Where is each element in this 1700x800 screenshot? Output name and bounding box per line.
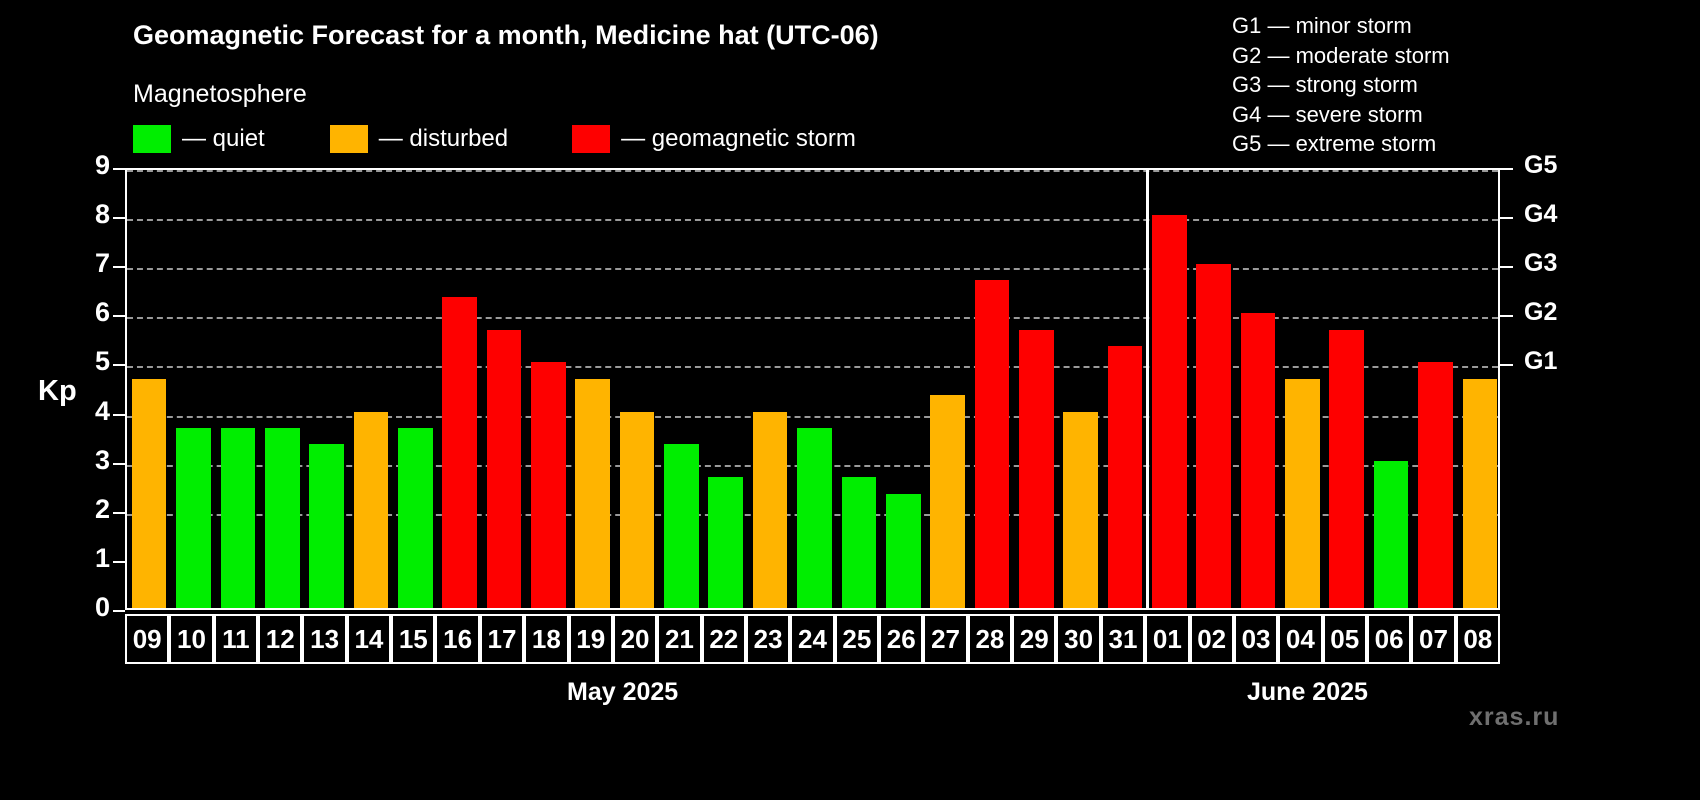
g-tick-mark [1500, 266, 1513, 268]
bar-29[interactable] [1019, 330, 1054, 608]
legend-item-quiet: — quiet [133, 125, 265, 153]
bar-19[interactable] [575, 379, 610, 608]
y-tick-mark [113, 463, 125, 465]
bar-30[interactable] [1063, 412, 1098, 608]
y-tick-label-4: 4 [70, 396, 110, 427]
g-tick-mark [1500, 364, 1513, 366]
day-label-01[interactable]: 01 [1145, 614, 1189, 664]
day-label-24[interactable]: 24 [790, 614, 834, 664]
bar-02[interactable] [1196, 264, 1231, 608]
y-tick-label-1: 1 [70, 543, 110, 574]
chart-page: Geomagnetic Forecast for a month, Medici… [0, 0, 1700, 800]
bar-12[interactable] [265, 428, 300, 608]
day-label-25[interactable]: 25 [835, 614, 879, 664]
day-label-26[interactable]: 26 [879, 614, 923, 664]
bar-31[interactable] [1108, 346, 1143, 608]
legend: — quiet — disturbed — geomagnetic storm [133, 124, 856, 154]
page-title: Geomagnetic Forecast for a month, Medici… [133, 20, 879, 51]
bar-13[interactable] [309, 444, 344, 608]
bar-01[interactable] [1152, 215, 1187, 608]
legend-item-storm: — geomagnetic storm [572, 125, 856, 153]
day-label-21[interactable]: 21 [657, 614, 701, 664]
bar-07[interactable] [1418, 362, 1453, 608]
day-axis: 0910111213141516171819202122232425262728… [125, 614, 1500, 664]
day-label-30[interactable]: 30 [1056, 614, 1100, 664]
bar-04[interactable] [1285, 379, 1320, 608]
bars [127, 170, 1498, 608]
g-scale-line-g1: G1 — minor storm [1232, 11, 1450, 41]
g-axis-label-G3: G3 [1524, 249, 1557, 278]
y-tick-mark [113, 610, 125, 612]
legend-label-disturbed: — disturbed [379, 125, 508, 153]
g-scale-line-g4: G4 — severe storm [1232, 100, 1450, 130]
day-label-20[interactable]: 20 [613, 614, 657, 664]
magnetosphere-label: Magnetosphere [133, 80, 307, 109]
bar-03[interactable] [1241, 313, 1276, 608]
bar-21[interactable] [664, 444, 699, 608]
y-tick-label-3: 3 [70, 445, 110, 476]
g-scale-line-g5: G5 — extreme storm [1232, 129, 1450, 159]
day-label-19[interactable]: 19 [569, 614, 613, 664]
day-label-13[interactable]: 13 [302, 614, 346, 664]
bar-25[interactable] [842, 477, 877, 608]
day-label-17[interactable]: 17 [480, 614, 524, 664]
bar-27[interactable] [930, 395, 965, 608]
plot-area [125, 168, 1500, 610]
y-tick-label-5: 5 [70, 346, 110, 377]
day-label-22[interactable]: 22 [702, 614, 746, 664]
day-label-02[interactable]: 02 [1190, 614, 1234, 664]
day-label-14[interactable]: 14 [347, 614, 391, 664]
bar-16[interactable] [442, 297, 477, 608]
y-tick-label-6: 6 [70, 297, 110, 328]
day-label-27[interactable]: 27 [923, 614, 967, 664]
bar-23[interactable] [753, 412, 788, 608]
day-label-16[interactable]: 16 [435, 614, 479, 664]
bar-08[interactable] [1463, 379, 1498, 608]
day-label-11[interactable]: 11 [214, 614, 258, 664]
day-label-18[interactable]: 18 [524, 614, 568, 664]
watermark: xras.ru [1469, 703, 1559, 732]
y-tick-label-8: 8 [70, 199, 110, 230]
legend-swatch-disturbed-icon [330, 125, 368, 153]
day-label-06[interactable]: 06 [1367, 614, 1411, 664]
bar-28[interactable] [975, 280, 1010, 608]
g-tick-mark [1500, 315, 1513, 317]
bar-14[interactable] [354, 412, 389, 608]
day-label-23[interactable]: 23 [746, 614, 790, 664]
y-tick-mark [113, 414, 125, 416]
y-tick-mark [113, 364, 125, 366]
g-axis-label-G1: G1 [1524, 347, 1557, 376]
legend-swatch-storm-icon [572, 125, 610, 153]
bar-20[interactable] [620, 412, 655, 608]
day-label-29[interactable]: 29 [1012, 614, 1056, 664]
day-label-28[interactable]: 28 [968, 614, 1012, 664]
g-scale-line-g3: G3 — strong storm [1232, 70, 1450, 100]
y-tick-label-2: 2 [70, 494, 110, 525]
g-tick-mark [1500, 217, 1513, 219]
g-scale-line-g2: G2 — moderate storm [1232, 41, 1450, 71]
day-label-31[interactable]: 31 [1101, 614, 1145, 664]
y-tick-mark [113, 315, 125, 317]
legend-swatch-quiet-icon [133, 125, 171, 153]
day-label-15[interactable]: 15 [391, 614, 435, 664]
y-tick-mark [113, 217, 125, 219]
day-label-10[interactable]: 10 [169, 614, 213, 664]
g-axis-label-G5: G5 [1524, 151, 1557, 180]
bar-18[interactable] [531, 362, 566, 608]
y-tick-label-9: 9 [70, 150, 110, 181]
y-tick-mark [113, 168, 125, 170]
y-tick-mark [113, 266, 125, 268]
day-label-04[interactable]: 04 [1278, 614, 1322, 664]
g-scale-legend: G1 — minor storm G2 — moderate storm G3 … [1232, 11, 1450, 159]
day-label-09[interactable]: 09 [125, 614, 169, 664]
bar-10[interactable] [176, 428, 211, 608]
bar-17[interactable] [487, 330, 522, 608]
g-tick-mark [1500, 168, 1513, 170]
legend-label-storm: — geomagnetic storm [621, 125, 856, 153]
y-tick-mark [113, 561, 125, 563]
month-label-may: May 2025 [567, 678, 678, 707]
y-tick-label-0: 0 [70, 592, 110, 623]
bar-24[interactable] [797, 428, 832, 608]
legend-item-disturbed: — disturbed [330, 125, 508, 153]
day-label-07[interactable]: 07 [1411, 614, 1455, 664]
bar-09[interactable] [132, 379, 167, 608]
bar-06[interactable] [1374, 461, 1409, 608]
g-axis-label-G4: G4 [1524, 200, 1557, 229]
day-label-03[interactable]: 03 [1234, 614, 1278, 664]
y-tick-mark [113, 512, 125, 514]
bar-05[interactable] [1329, 330, 1364, 608]
month-label-june: June 2025 [1247, 678, 1368, 707]
day-label-05[interactable]: 05 [1323, 614, 1367, 664]
y-tick-label-7: 7 [70, 248, 110, 279]
g-axis-label-G2: G2 [1524, 298, 1557, 327]
bar-26[interactable] [886, 494, 921, 608]
bar-15[interactable] [398, 428, 433, 608]
bar-11[interactable] [221, 428, 256, 608]
day-label-12[interactable]: 12 [258, 614, 302, 664]
legend-label-quiet: — quiet [182, 125, 265, 153]
day-label-08[interactable]: 08 [1456, 614, 1500, 664]
bar-22[interactable] [708, 477, 743, 608]
month-divider [1146, 170, 1149, 608]
